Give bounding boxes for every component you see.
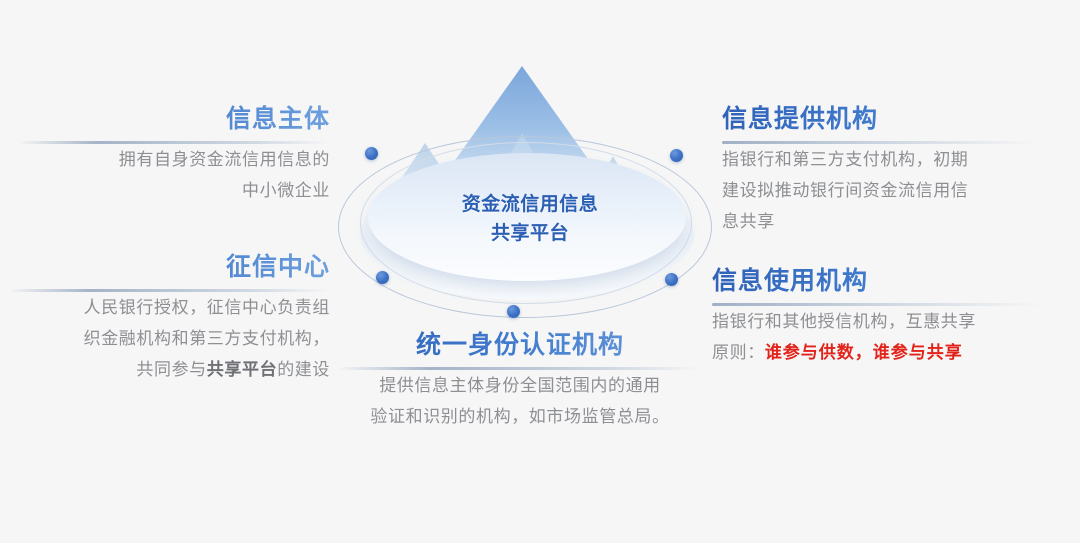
body-text: 共同参与 bbox=[136, 360, 206, 379]
orbit-dot-top-right bbox=[670, 149, 683, 162]
body-line: 原则：谁参与供数，谁参与共享 bbox=[712, 337, 1042, 368]
block-information-provider: 信息提供机构 指银行和第三方支付机构，初期 建设拟推动银行间资金流信用信 息共享 bbox=[722, 104, 1038, 237]
body-line: 息共享 bbox=[722, 206, 1038, 237]
body-line: 拥有自身资金流信用信息的 bbox=[20, 144, 330, 175]
body-text-emphasis: 谁参与供数，谁参与共享 bbox=[765, 343, 963, 362]
body-line: 人民银行授权，征信中心负责组 bbox=[10, 292, 330, 323]
block-information-user: 信息使用机构 指银行和其他授信机构，互惠共享 原则：谁参与供数，谁参与共享 bbox=[712, 266, 1042, 368]
body-line: 中小微企业 bbox=[20, 175, 330, 206]
heading-credit-reference-center: 征信中心 bbox=[10, 252, 330, 282]
block-credit-reference-center: 征信中心 人民银行授权，征信中心负责组 织金融机构和第三方支付机构， 共同参与共… bbox=[10, 252, 330, 385]
body-line: 指银行和第三方支付机构，初期 bbox=[722, 144, 1038, 175]
body-line: 指银行和其他授信机构，互惠共享 bbox=[712, 306, 1042, 337]
body-information-user: 指银行和其他授信机构，互惠共享 原则：谁参与供数，谁参与共享 bbox=[712, 306, 1042, 368]
orbit-dot-bottom-center bbox=[507, 305, 520, 318]
heading-information-provider: 信息提供机构 bbox=[722, 104, 1038, 134]
body-text-bold: 共享平台 bbox=[207, 360, 277, 379]
body-line: 建设拟推动银行间资金流信用信 bbox=[722, 175, 1038, 206]
block-unified-identity-authority: 统一身份认证机构 提供信息主体身份全国范围内的通用 验证和识别的机构，如市场监管… bbox=[340, 330, 700, 432]
body-text: 的建设 bbox=[277, 360, 330, 379]
body-information-provider: 指银行和第三方支付机构，初期 建设拟推动银行间资金流信用信 息共享 bbox=[722, 144, 1038, 237]
body-credit-reference-center: 人民银行授权，征信中心负责组 织金融机构和第三方支付机构， 共同参与共享平台的建… bbox=[10, 292, 330, 385]
heading-unified-identity-authority: 统一身份认证机构 bbox=[340, 330, 700, 360]
center-graphic: 资金流信用信息 共享平台 bbox=[330, 38, 730, 338]
infographic-canvas: 资金流信用信息 共享平台 信息主体 拥有自身资金流信用信息的 中小微企业 征信中… bbox=[0, 0, 1080, 543]
body-information-subject: 拥有自身资金流信用信息的 中小微企业 bbox=[20, 144, 330, 206]
orbit-dot-bottom-left bbox=[376, 271, 389, 284]
body-line: 共同参与共享平台的建设 bbox=[10, 354, 330, 385]
center-label-line-1: 资金流信用信息 bbox=[330, 190, 730, 219]
center-label-line-2: 共享平台 bbox=[330, 219, 730, 248]
heading-information-user: 信息使用机构 bbox=[712, 266, 1042, 296]
body-line: 织金融机构和第三方支付机构， bbox=[10, 323, 330, 354]
body-unified-identity-authority: 提供信息主体身份全国范围内的通用 验证和识别的机构，如市场监管总局。 bbox=[340, 370, 700, 432]
body-line: 提供信息主体身份全国范围内的通用 bbox=[340, 370, 700, 401]
block-information-subject: 信息主体 拥有自身资金流信用信息的 中小微企业 bbox=[20, 104, 330, 206]
heading-information-subject: 信息主体 bbox=[20, 104, 330, 134]
orbit-dot-bottom-right bbox=[665, 273, 678, 286]
body-line: 验证和识别的机构，如市场监管总局。 bbox=[340, 401, 700, 432]
orbit-dot-top-left bbox=[365, 147, 378, 160]
center-platform-label: 资金流信用信息 共享平台 bbox=[330, 190, 730, 248]
body-text: 原则： bbox=[712, 343, 765, 362]
